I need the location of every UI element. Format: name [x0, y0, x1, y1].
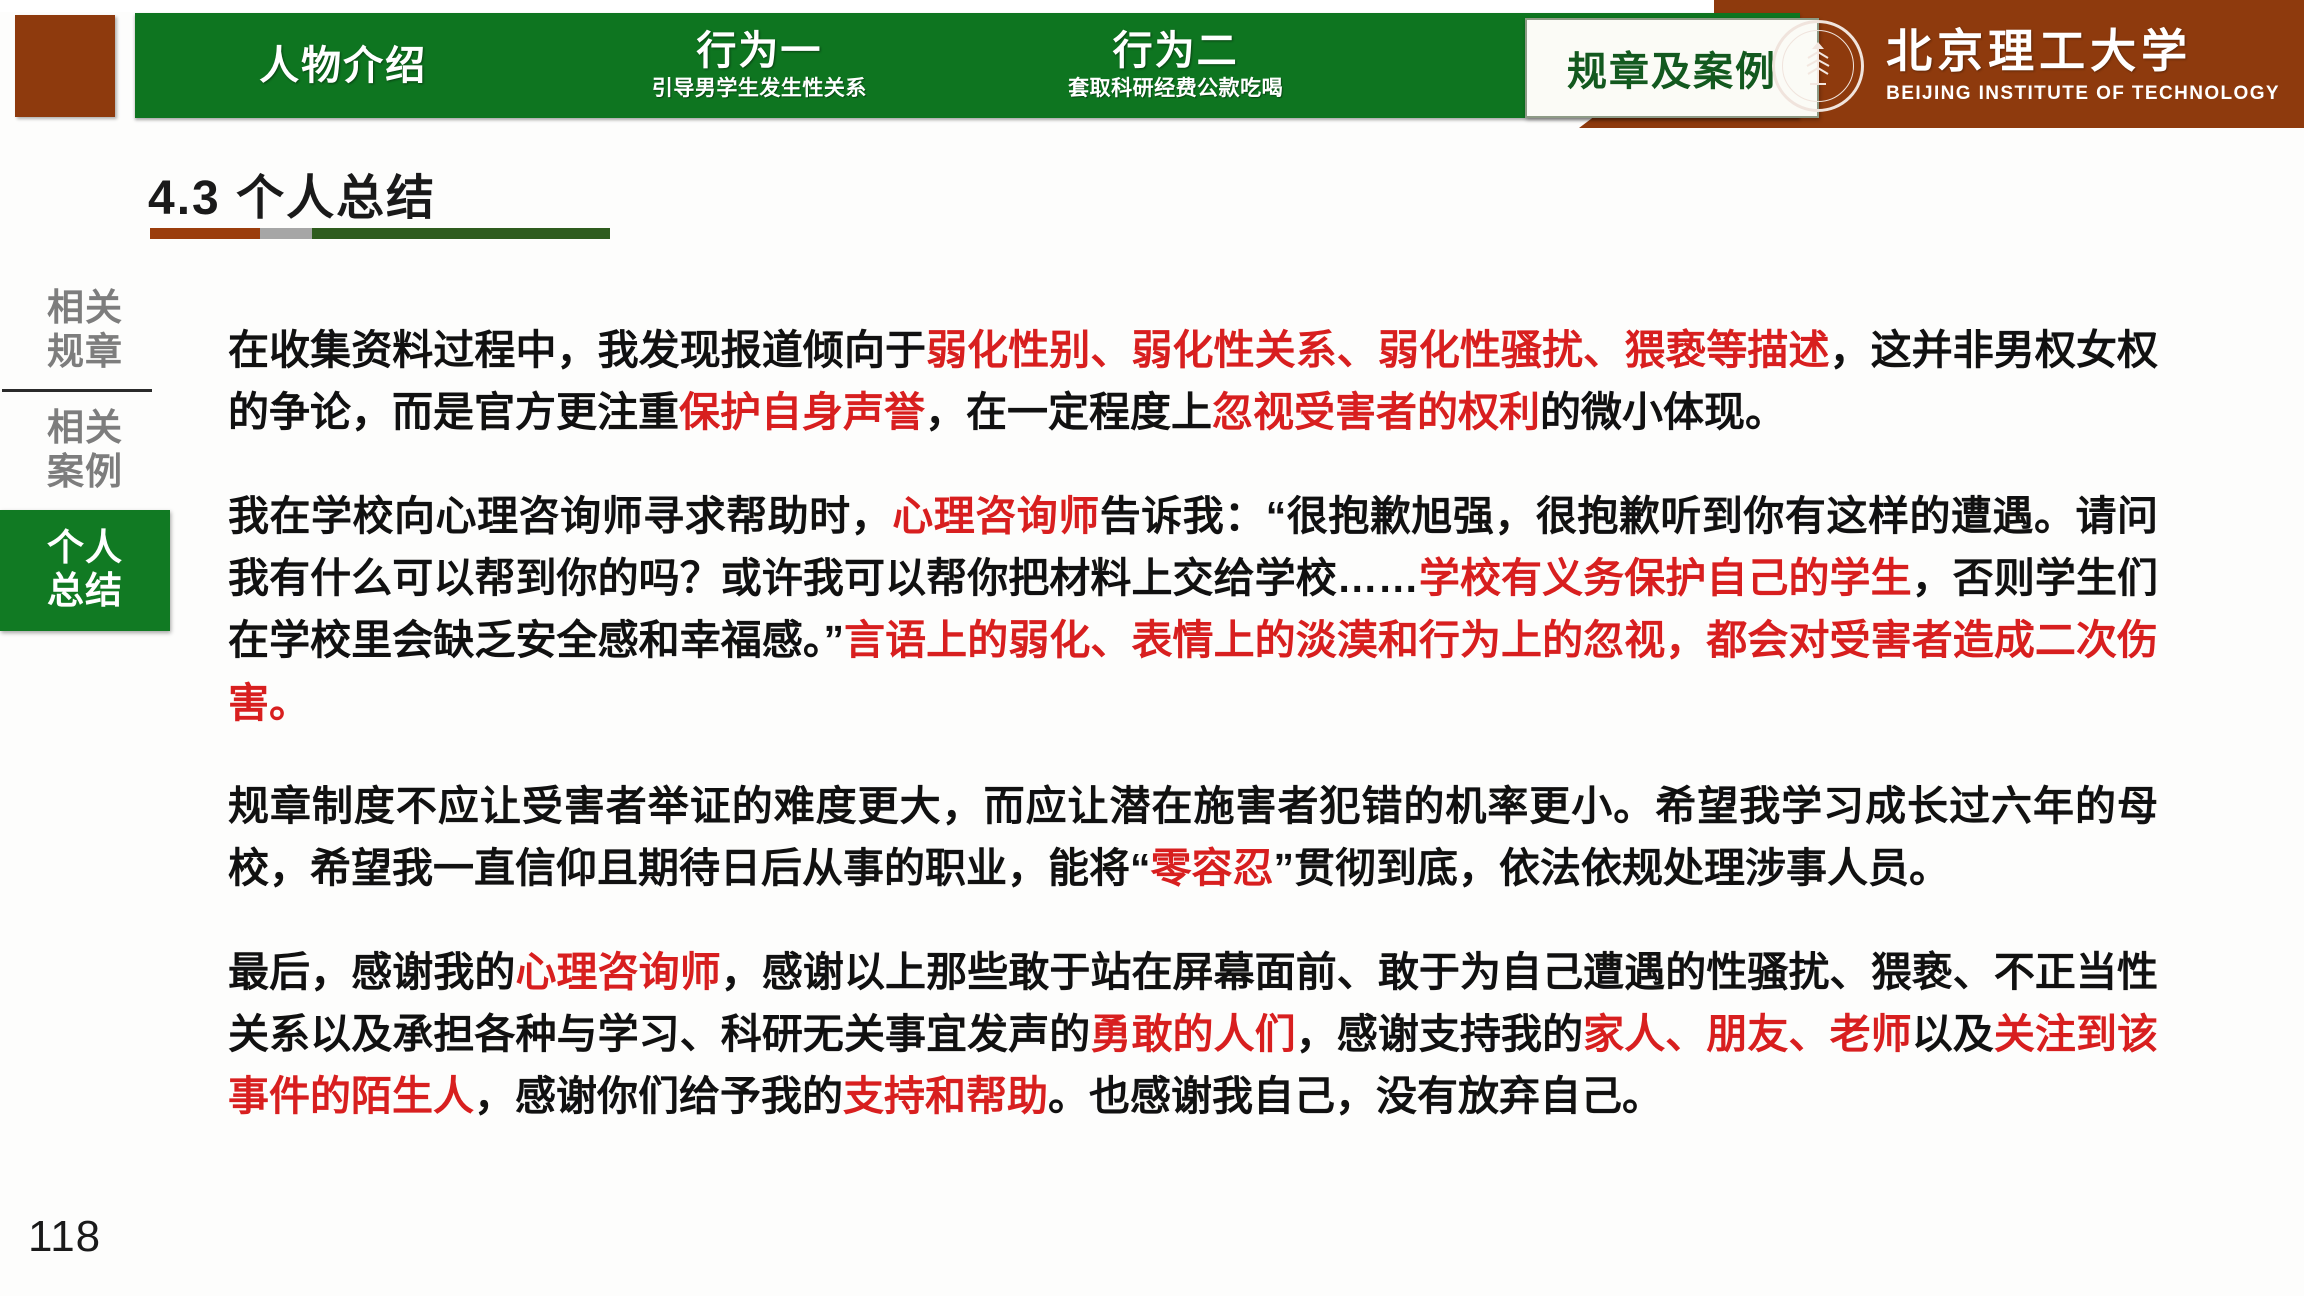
body-paragraph-3: 规章制度不应让受害者举证的难度更大，而应让潜在施害者犯错的机率更小。希望我学习成…	[228, 775, 2158, 900]
university-name-en: BEIJING INSTITUTE OF TECHNOLOGY	[1886, 83, 2280, 105]
slide-header: 人物介绍 行为一 引导男学生发生性关系 行为二 套取科研经费公款吃喝 规章及案例	[0, 0, 2304, 128]
text-run: 最后，感谢我的	[228, 949, 515, 995]
university-logo-text: 北京理工大学 BEIJING INSTITUTE OF TECHNOLOGY	[1886, 28, 2280, 105]
body-paragraph-4: 最后，感谢我的心理咨询师，感谢以上那些敢于站在屏幕面前、敢于为自己遭遇的性骚扰、…	[228, 941, 2158, 1128]
highlighted-text-run: 保护自身声誉	[679, 389, 925, 435]
sidebar-item-related-rules-line2: 规章	[0, 330, 170, 374]
nav-item-rules-and-cases-label: 规章及案例	[1567, 39, 1777, 97]
nav-item-behavior-one-label: 行为一	[551, 30, 967, 72]
sidebar-item-personal-summary[interactable]: 个人 总结	[0, 510, 170, 631]
highlighted-text-run: 勇敢的人们	[1090, 1011, 1295, 1057]
nav-item-behavior-two-label: 行为二	[968, 30, 1384, 72]
text-run: 以及	[1912, 1011, 1994, 1057]
text-run: ，感谢你们给予我的	[474, 1073, 843, 1119]
nav-item-behavior-two-sublabel: 套取科研经费公款吃喝	[968, 78, 1384, 100]
text-run: 。也感谢我自己，没有放弃自己。	[1048, 1073, 1663, 1119]
highlighted-text-run: 支持和帮助	[843, 1073, 1048, 1119]
sidebar-item-related-cases-line1: 相关	[0, 406, 170, 450]
bit-seal-icon	[1772, 20, 1864, 112]
title-rule-segment-brown	[150, 228, 260, 239]
title-rule-segment-green	[312, 228, 610, 239]
nav-item-behavior-one[interactable]: 行为一 引导男学生发生性关系	[551, 30, 967, 100]
sidebar-item-related-cases-line2: 案例	[0, 450, 170, 494]
page-number: 118	[28, 1212, 101, 1262]
nav-item-people-label: 人物介绍	[135, 45, 551, 87]
text-run: 我在学校向心理咨询师寻求帮助时，	[228, 493, 892, 539]
header-left-accent-block	[15, 15, 115, 117]
university-logo: 北京理工大学 BEIJING INSTITUTE OF TECHNOLOGY	[1772, 16, 2280, 116]
page-title: 4.3 个人总结	[148, 158, 436, 228]
text-run: ，感谢支持我的	[1296, 1011, 1583, 1057]
highlighted-text-run: 心理咨询师	[892, 493, 1100, 539]
text-run: ”贯彻到底，依法依规处理涉事人员。	[1274, 845, 1951, 891]
sidebar-item-personal-summary-line1: 个人	[0, 526, 170, 570]
body-paragraph-2: 我在学校向心理咨询师寻求帮助时，心理咨询师告诉我：“很抱歉旭强，很抱歉听到你有这…	[228, 485, 2158, 734]
text-run: 在收集资料过程中，我发现报道倾向于	[228, 327, 926, 373]
highlighted-text-run: 心理咨询师	[515, 949, 720, 995]
text-run: ，在一定程度上	[925, 389, 1212, 435]
body-paragraph-1: 在收集资料过程中，我发现报道倾向于弱化性别、弱化性关系、弱化性骚扰、猥亵等描述，…	[228, 319, 2158, 444]
title-rule-segment-gray	[260, 228, 312, 239]
title-underline-rule	[150, 228, 610, 239]
nav-item-behavior-two[interactable]: 行为二 套取科研经费公款吃喝	[968, 30, 1384, 100]
sidebar-item-related-rules-line1: 相关	[0, 286, 170, 330]
text-run: 的微小体现。	[1540, 389, 1786, 435]
sidebar-item-related-rules[interactable]: 相关 规章	[0, 272, 170, 389]
highlighted-text-run: 学校有义务保护自己的学生	[1419, 555, 1912, 601]
section-sidebar: 相关 规章 相关 案例 个人 总结	[0, 272, 170, 631]
nav-item-people[interactable]: 人物介绍	[135, 45, 551, 87]
slide-body: 在收集资料过程中，我发现报道倾向于弱化性别、弱化性关系、弱化性骚扰、猥亵等描述，…	[228, 278, 2158, 1127]
highlighted-text-run: 忽视受害者的权利	[1212, 389, 1540, 435]
nav-item-behavior-one-sublabel: 引导男学生发生性关系	[551, 78, 967, 100]
highlighted-text-run: 弱化性别、弱化性关系、弱化性骚扰、猥亵等描述	[926, 327, 1829, 373]
highlighted-text-run: 家人、朋友、老师	[1583, 1011, 1912, 1057]
sidebar-item-personal-summary-line2: 总结	[0, 569, 170, 613]
university-name-cn: 北京理工大学	[1886, 28, 2280, 74]
sidebar-item-related-cases[interactable]: 相关 案例	[0, 392, 170, 509]
highlighted-text-run: 零容忍	[1151, 845, 1274, 891]
